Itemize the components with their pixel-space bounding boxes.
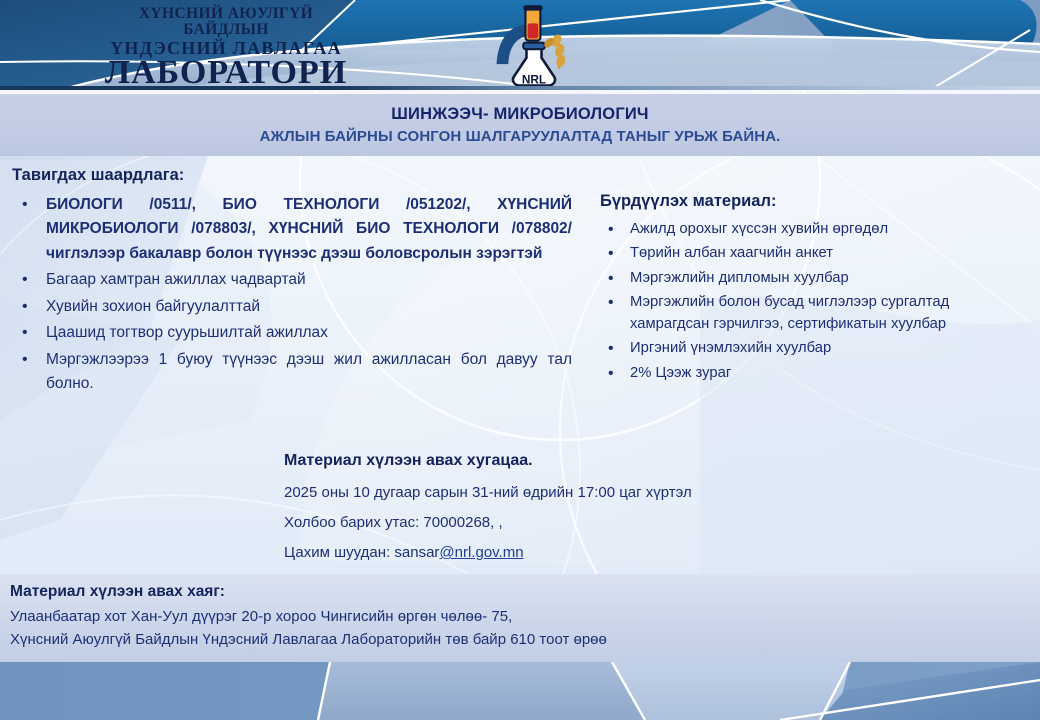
requirements-heading: Тавигдах шаардлага: <box>12 166 572 185</box>
deadline-heading: Материал хүлээн авах хугацаа. <box>284 452 804 470</box>
poster-footer <box>0 662 1040 720</box>
announcement-title-band: ШИНЖЭЭЧ- МИКРОБИОЛОГИЧ АЖЛЫН БАЙРНЫ СОНГ… <box>0 94 1040 156</box>
email-user: sansar <box>394 544 439 561</box>
job-announcement-poster: NRL ХҮНСНИЙ АЮУЛГҮЙ БАЙДЛЫН ҮНДЭСНИЙ ЛАВ… <box>0 0 1040 720</box>
address-line-2: Хүнсний Аюулгүй Байдлын Үндэсний Лавлага… <box>10 629 1040 652</box>
list-item: Багаар хамтран ажиллах чадвартай <box>12 268 572 292</box>
poster-header: NRL ХҮНСНИЙ АЮУЛГҮЙ БАЙДЛЫН ҮНДЭСНИЙ ЛАВ… <box>0 0 1040 90</box>
email-link[interactable]: @nrl.gov.mn <box>439 544 523 561</box>
page-subtitle: АЖЛЫН БАЙРНЫ СОНГОН ШАЛГАРУУЛАЛТАД ТАНЫГ… <box>260 128 781 145</box>
deadline-date: 2025 оны 10 дугаар сарын 31-ний өдрийн 1… <box>284 484 804 501</box>
deadline-contact-section: Материал хүлээн авах хугацаа. 2025 оны 1… <box>284 452 804 574</box>
documents-list: Ажилд орохыг хүссэн хувийн өргөдөл Төрий… <box>600 219 1032 384</box>
list-item: Ажилд орохыг хүссэн хувийн өргөдөл <box>600 219 1032 240</box>
logo-abbr-text: NRL <box>522 73 546 86</box>
documents-heading: Бүрдүүлэх материал: <box>600 192 1032 211</box>
address-line-1: Улаанбаатар хот Хан-Уул дүүрэг 20-р хоро… <box>10 606 1040 629</box>
list-item: Иргэний үнэмлэхийн хуулбар <box>600 338 1032 359</box>
list-item: 2% Цээж зураг <box>600 363 1032 384</box>
requirements-list: БИОЛОГИ /0511/, БИО ТЕХНОЛОГИ /051202/, … <box>12 193 572 397</box>
documents-section: Бүрдүүлэх материал: Ажилд орохыг хүссэн … <box>600 192 1032 387</box>
email-label: Цахим шуудан: <box>284 544 390 561</box>
list-item: Цаашид тогтвор суурьшилтай ажиллах <box>12 321 572 345</box>
address-heading: Материал хүлээн авах хаяг: <box>10 583 1040 601</box>
requirements-section: Тавигдах шаардлага: БИОЛОГИ /0511/, БИО … <box>12 166 572 399</box>
contact-phone: Холбоо барих утас: 70000268, , <box>284 514 804 531</box>
list-item: Хувийн зохион байгуулалттай <box>12 295 572 319</box>
org-name-line1: ХҮНСНИЙ АЮУЛГҮЙ БАЙДЛЫН <box>96 6 356 37</box>
list-item: Мэргэжлийн дипломын хуулбар <box>600 268 1032 289</box>
header-divider-rule <box>0 86 1040 90</box>
list-item: Мэргэжлээрээ 1 буюу түүнээс дээш жил ажи… <box>12 348 572 397</box>
list-item: Төрийн албан хаагчийн анкет <box>600 243 1032 264</box>
contact-email-row: Цахим шуудан: sansar@nrl.gov.mn <box>284 544 804 561</box>
address-section: Материал хүлээн авах хаяг: Улаанбаатар х… <box>0 574 1040 662</box>
list-item: БИОЛОГИ /0511/, БИО ТЕХНОЛОГИ /051202/, … <box>12 193 572 266</box>
list-item: Мэргэжлийн болон бусад чиглэлээр сургалт… <box>600 292 1032 335</box>
organization-name: ХҮНСНИЙ АЮУЛГҮЙ БАЙДЛЫН ҮНДЭСНИЙ ЛАВЛАГА… <box>96 6 356 90</box>
page-title: ШИНЖЭЭЧ- МИКРОБИОЛОГИЧ <box>391 105 648 124</box>
laboratory-logo-icon: NRL <box>14 2 100 86</box>
org-name-line3: ЛАБОРАТОРИ <box>96 56 356 90</box>
requirement-degree-text: БИОЛОГИ /0511/, БИО ТЕХНОЛОГИ /051202/, … <box>46 196 572 262</box>
